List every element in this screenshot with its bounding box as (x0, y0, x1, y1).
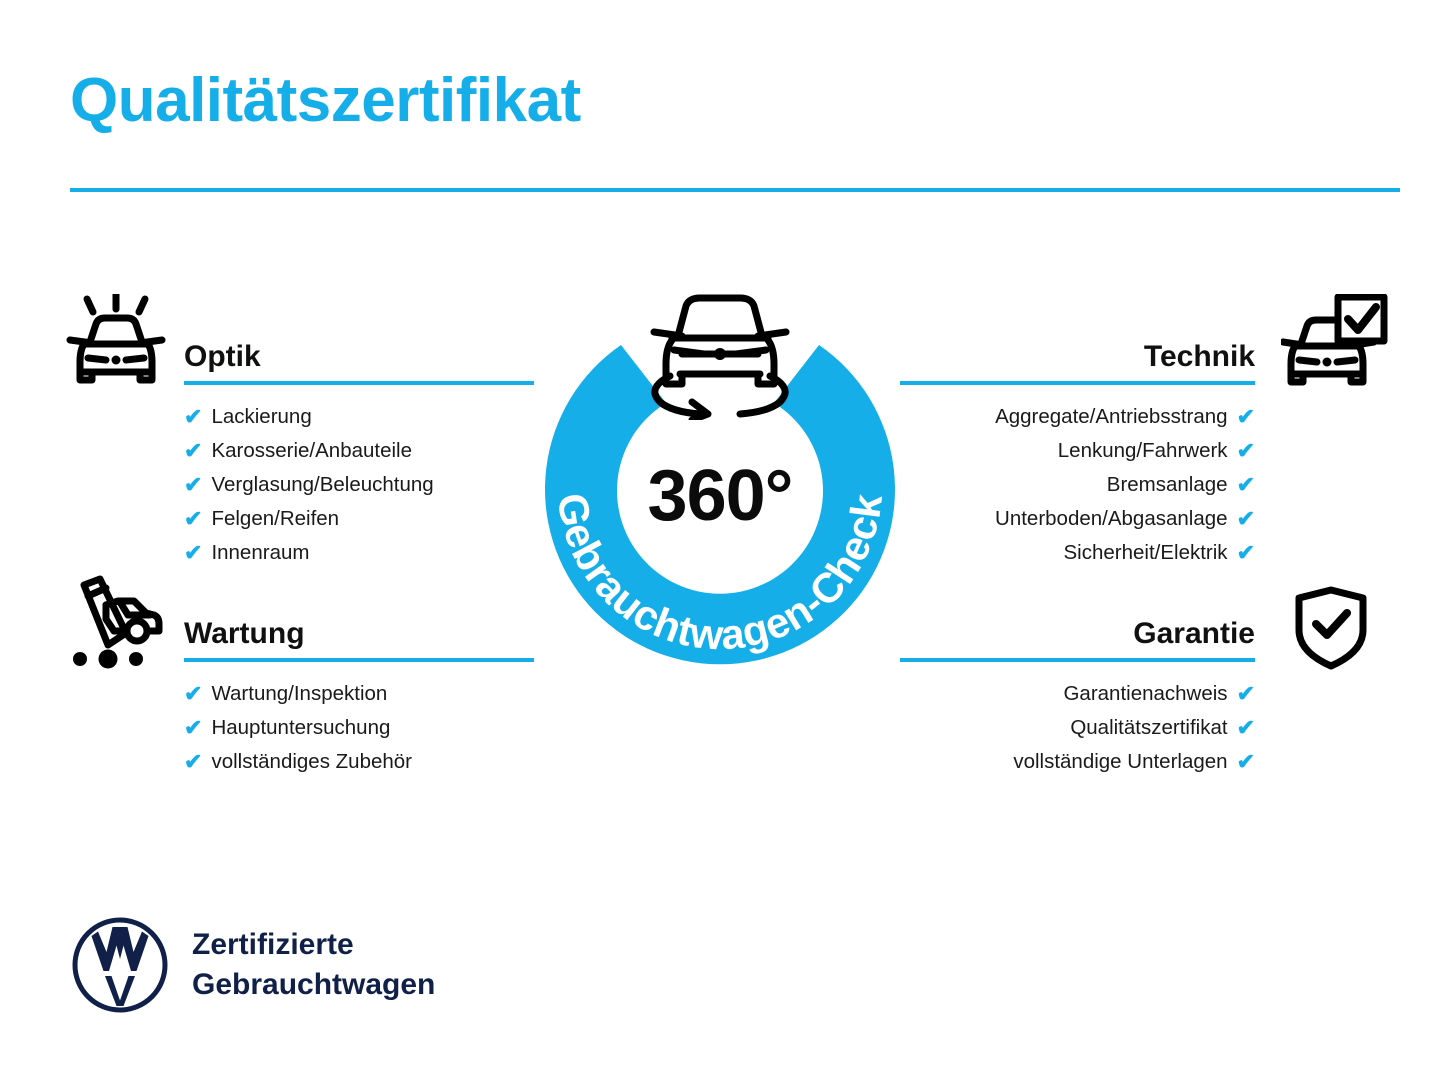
section-wartung-list: ✔ Wartung/Inspektion ✔ Hauptuntersuchung… (184, 677, 534, 779)
list-item-label: Hauptuntersuchung (211, 711, 390, 745)
section-optik-title: Optik (184, 337, 534, 377)
list-item: Bremsanlage ✔ (900, 468, 1255, 502)
check-icon: ✔ (1237, 717, 1255, 739)
list-item: ✔ Wartung/Inspektion (184, 677, 534, 711)
check-icon: ✔ (1237, 440, 1255, 462)
list-item-label: Bremsanlage (1107, 468, 1228, 502)
footer-line-1: Zertifizierte (192, 925, 435, 965)
list-item-label: Aggregate/Antriebsstrang (995, 400, 1227, 434)
section-garantie-divider (900, 658, 1255, 662)
section-garantie: Garantie Garantienachweis ✔ Qualitätszer… (900, 614, 1255, 779)
section-wartung-title: Wartung (184, 614, 534, 654)
section-garantie-title: Garantie (900, 614, 1255, 654)
list-item-label: Karosserie/Anbauteile (211, 434, 412, 468)
check-icon: ✔ (184, 406, 202, 428)
check-icon: ✔ (1237, 406, 1255, 428)
section-optik-list: ✔ Lackierung ✔ Karosserie/Anbauteile ✔ V… (184, 400, 534, 570)
car-front-rotate-icon (630, 288, 810, 420)
check-icon: ✔ (1237, 508, 1255, 530)
car-front-checkbox-icon (1281, 294, 1389, 395)
list-item: ✔ Lackierung (184, 400, 534, 434)
list-item-label: Unterboden/Abgasanlage (995, 502, 1228, 536)
list-item: ✔ Karosserie/Anbauteile (184, 434, 534, 468)
check-icon: ✔ (184, 751, 202, 773)
list-item-label: Garantienachweis (1063, 677, 1227, 711)
pencil-car-service-icon (62, 575, 170, 676)
list-item: ✔ Hauptuntersuchung (184, 711, 534, 745)
list-item: Aggregate/Antriebsstrang ✔ (900, 400, 1255, 434)
list-item-label: vollständiges Zubehör (211, 745, 412, 779)
section-technik-divider (900, 381, 1255, 385)
section-garantie-list: Garantienachweis ✔ Qualitätszertifikat ✔… (900, 677, 1255, 779)
list-item-label: Innenraum (211, 536, 309, 570)
check-icon: ✔ (1237, 474, 1255, 496)
footer-brand: Zertifizierte Gebrauchtwagen (70, 915, 435, 1015)
check-icon: ✔ (184, 683, 202, 705)
list-item-label: Sicherheit/Elektrik (1064, 536, 1228, 570)
section-optik-header: Optik (184, 337, 534, 383)
footer-line-2: Gebrauchtwagen (192, 965, 435, 1005)
list-item: ✔ Felgen/Reifen (184, 502, 534, 536)
list-item: Unterboden/Abgasanlage ✔ (900, 502, 1255, 536)
section-technik: Technik Aggregate/Antriebsstrang ✔ Lenku… (900, 337, 1255, 570)
list-item-label: Lackierung (211, 400, 311, 434)
list-item-label: Verglasung/Beleuchtung (211, 468, 433, 502)
check-icon: ✔ (184, 440, 202, 462)
section-optik: Optik ✔ Lackierung ✔ Karosserie/Anbautei… (184, 337, 534, 570)
check-icon: ✔ (184, 508, 202, 530)
title-divider (70, 188, 1400, 192)
360-check-badge: Gebrauchtwagen-Check 360° (516, 283, 924, 691)
page-title: Qualitätszertifikat (70, 68, 581, 133)
section-technik-list: Aggregate/Antriebsstrang ✔ Lenkung/Fahrw… (900, 400, 1255, 570)
list-item: Lenkung/Fahrwerk ✔ (900, 434, 1255, 468)
list-item: ✔ Verglasung/Beleuchtung (184, 468, 534, 502)
list-item: vollständige Unterlagen ✔ (900, 745, 1255, 779)
list-item: ✔ Innenraum (184, 536, 534, 570)
check-icon: ✔ (1237, 751, 1255, 773)
list-item: Sicherheit/Elektrik ✔ (900, 536, 1255, 570)
list-item: Garantienachweis ✔ (900, 677, 1255, 711)
car-front-shine-icon (62, 294, 170, 395)
section-optik-divider (184, 381, 534, 385)
section-wartung-header: Wartung (184, 614, 534, 660)
check-icon: ✔ (184, 474, 202, 496)
list-item-label: Wartung/Inspektion (211, 677, 387, 711)
list-item-label: Felgen/Reifen (211, 502, 339, 536)
section-technik-header: Technik (900, 337, 1255, 383)
check-icon: ✔ (184, 717, 202, 739)
check-icon: ✔ (1237, 542, 1255, 564)
check-icon: ✔ (1237, 683, 1255, 705)
section-technik-title: Technik (900, 337, 1255, 377)
section-wartung-divider (184, 658, 534, 662)
certificate-page: Qualitätszertifikat (0, 0, 1440, 1080)
list-item-label: Qualitätszertifikat (1070, 711, 1227, 745)
list-item-label: vollständige Unterlagen (1013, 745, 1227, 779)
section-wartung: Wartung ✔ Wartung/Inspektion ✔ Hauptunte… (184, 614, 534, 779)
volkswagen-logo (70, 915, 170, 1015)
list-item: ✔ vollständiges Zubehör (184, 745, 534, 779)
shield-check-icon (1293, 586, 1369, 675)
footer-brand-text: Zertifizierte Gebrauchtwagen (192, 925, 435, 1005)
check-icon: ✔ (184, 542, 202, 564)
list-item-label: Lenkung/Fahrwerk (1058, 434, 1228, 468)
list-item: Qualitätszertifikat ✔ (900, 711, 1255, 745)
section-garantie-header: Garantie (900, 614, 1255, 660)
